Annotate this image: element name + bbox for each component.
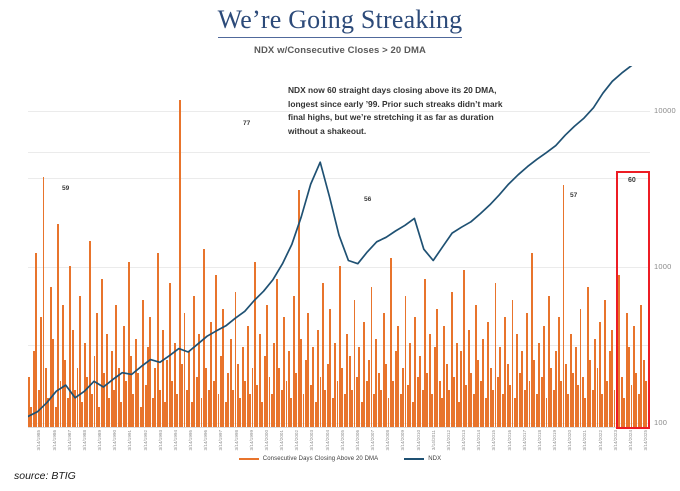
x-axis-tick: 3/14/1989 <box>97 430 102 450</box>
chart-page: We’re Going Streaking NDX w/Consecutive … <box>0 0 680 491</box>
x-axis-tick: 3/14/2021 <box>582 430 587 450</box>
y-axis-tick-1000: 1000 <box>654 262 672 271</box>
legend-label: NDX <box>428 456 441 462</box>
x-axis-tick: 3/14/2006 <box>355 430 360 450</box>
title-container: We’re Going Streaking <box>0 6 680 38</box>
x-axis-tick: 3/14/2010 <box>416 430 421 450</box>
x-axis-tick: 3/14/2005 <box>340 430 345 450</box>
legend-swatch-icon <box>239 458 259 461</box>
axis-baseline <box>28 427 650 428</box>
x-axis-tick: 3/14/2000 <box>264 430 269 450</box>
x-axis-tick: 3/14/2011 <box>431 430 436 450</box>
x-axis-tick: 3/14/2007 <box>370 430 375 450</box>
source-note: source: BTIG <box>14 470 76 482</box>
x-axis-tick: 3/14/1994 <box>173 430 178 450</box>
red-highlight-box <box>616 171 650 429</box>
legend-ndx[interactable]: NDX <box>404 456 441 462</box>
x-axis-tick: 3/14/2014 <box>476 430 481 450</box>
y-axis-tick-100: 100 <box>654 418 667 427</box>
x-axis-tick: 3/14/1990 <box>112 430 117 450</box>
x-axis-tick: 3/14/1985 <box>36 430 41 450</box>
x-axis-tick: 3/14/1999 <box>249 430 254 450</box>
legend-consecutive-days[interactable]: Consecutive Days Closing Above 20 DMA <box>239 456 378 462</box>
x-axis-tick: 3/14/2002 <box>294 430 299 450</box>
x-axis-tick: 3/14/2020 <box>567 430 572 450</box>
chart-subtitle: NDX w/Consecutive Closes > 20 DMA <box>0 45 680 56</box>
x-axis-tick: 3/14/2017 <box>522 430 527 450</box>
x-axis-tick: 3/14/2019 <box>552 430 557 450</box>
x-axis-tick: 3/14/2022 <box>598 430 603 450</box>
x-axis-tick: 3/14/2013 <box>461 430 466 450</box>
x-axis-tick: 3/14/1992 <box>143 430 148 450</box>
x-axis-tick: 3/14/1998 <box>234 430 239 450</box>
x-axis-tick: 3/14/2009 <box>400 430 405 450</box>
x-axis-tick: 3/14/1986 <box>52 430 57 450</box>
x-axis-tick: 3/14/2025 <box>643 430 648 450</box>
x-axis-tick: 3/14/1987 <box>67 430 72 450</box>
x-axis-tick: 3/14/2024 <box>628 430 633 450</box>
x-axis-tick: 3/14/1988 <box>82 430 87 450</box>
x-axis-tick: 3/14/2016 <box>507 430 512 450</box>
x-axis-tick: 3/14/1991 <box>127 430 132 450</box>
bar-value-label-59: 59 <box>62 185 69 192</box>
bar-value-label-57: 57 <box>570 192 577 199</box>
x-axis-tick: 3/14/2001 <box>279 430 284 450</box>
x-axis-tick: 3/14/2012 <box>446 430 451 450</box>
legend-swatch-icon <box>404 458 424 461</box>
x-axis-tick: 3/14/1996 <box>203 430 208 450</box>
x-axis-tick: 3/14/2003 <box>309 430 314 450</box>
x-axis-tick: 3/14/2008 <box>385 430 390 450</box>
x-axis-tick: 3/14/2004 <box>325 430 330 450</box>
x-axis-tick: 3/14/1997 <box>218 430 223 450</box>
x-axis-tick: 3/14/2023 <box>613 430 618 450</box>
page-title: We’re Going Streaking <box>218 6 463 38</box>
x-axis-tick: 3/14/2015 <box>491 430 496 450</box>
legend-label: Consecutive Days Closing Above 20 DMA <box>263 456 378 462</box>
chart-annotation: NDX now 60 straight days closing above i… <box>288 84 506 138</box>
bar-value-label-56: 56 <box>364 196 371 203</box>
y-axis-tick-10000: 10000 <box>654 106 676 115</box>
chart-legend: Consecutive Days Closing Above 20 DMANDX <box>0 456 680 462</box>
x-axis-tick: 3/14/1995 <box>188 430 193 450</box>
bar-value-label-77: 77 <box>243 120 250 127</box>
x-axis-tick: 3/14/2018 <box>537 430 542 450</box>
x-axis-tick: 3/14/1993 <box>158 430 163 450</box>
